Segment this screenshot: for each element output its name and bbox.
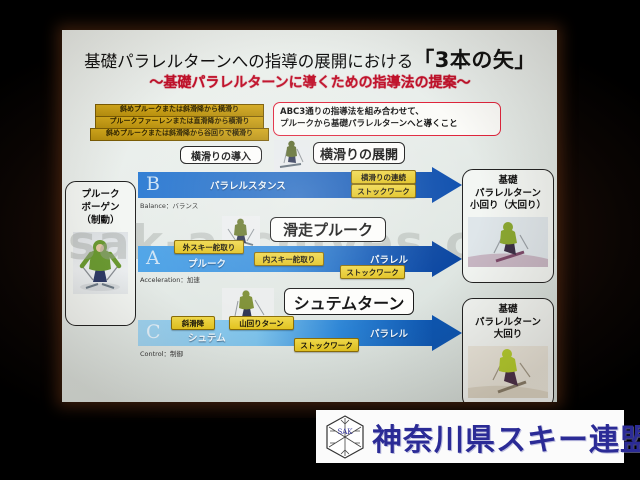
projected-slide: 基礎パラレルターンへの指導の展開における「3本の矢」 ～基礎パラレルターンに導く…	[62, 30, 557, 402]
skier-snowplow-photo	[73, 232, 128, 294]
row-a-stance-right: パラレル	[370, 252, 408, 266]
slide-title: 基礎パラレルターンへの指導の展開における「3本の矢」	[80, 44, 540, 74]
result-box-short-turn: 基礎 パラレルターン 小回り（大回り）	[462, 169, 554, 283]
federation-logo: SAK 神奈川県スキー連盟	[316, 410, 624, 463]
stage-header-a-main: 滑走プルーク	[270, 217, 386, 242]
federation-name: 神奈川県スキー連盟	[372, 415, 640, 459]
row-b-tag-2: ストックワーク	[351, 184, 416, 198]
stage-header-c-main: シュテムターン	[284, 288, 414, 315]
result-bot-line-1: 基礎	[463, 304, 553, 317]
start-state-box: プルーク ボーゲン （制動）	[65, 181, 136, 326]
row-c-stance-left: シュテム	[188, 330, 226, 344]
start-state-line-3: （制動）	[66, 214, 135, 227]
result-top-line-1: 基礎	[463, 175, 553, 188]
result-bot-line-3: 大回り	[463, 329, 553, 342]
row-a-letter: A	[146, 248, 160, 268]
svg-text:SAK: SAK	[337, 428, 353, 436]
red-callout-box: ABC3通りの指導法を組み合わせて、 プルークから基礎パラレルターンへと導くこと	[273, 102, 501, 136]
result-top-line-3: 小回り（大回り）	[463, 200, 553, 213]
row-c-english: Control：制御	[140, 348, 183, 358]
row-b-english: Balance：バランス	[140, 200, 198, 210]
row-c-tag-1: 斜滑降	[171, 316, 215, 330]
start-state-line-1: プルーク	[66, 188, 135, 201]
row-c-stance-right: パラレル	[370, 326, 408, 340]
hexagon-snowflake-icon: SAK	[324, 414, 366, 460]
stage-header-b-intro: 横滑りの導入	[180, 146, 262, 164]
row-c-tag-2: 山回りターン	[229, 316, 294, 330]
row-c-tag-3: ストックワーク	[294, 338, 359, 352]
row-a-english: Acceleration：加速	[140, 274, 200, 284]
red-callout-line-1: ABC3通りの指導法を組み合わせて、	[280, 106, 494, 118]
row-a-tag-2: 内スキー舵取り	[254, 252, 324, 266]
stage-header-b-main: 横滑りの展開	[313, 142, 405, 164]
slide-title-prefix: 基礎パラレルターンへの指導の展開における	[84, 52, 413, 71]
yellow-note-3: 斜めプルークまたは斜滑降から谷回りで横滑り	[90, 128, 269, 141]
screenshot-root: 基礎パラレルターンへの指導の展開における「3本の矢」 ～基礎パラレルターンに導く…	[0, 0, 640, 480]
row-a-tag-3: ストックワーク	[340, 265, 405, 279]
row-c-letter: C	[146, 322, 161, 342]
row-b-stance: パラレルスタンス	[210, 178, 286, 192]
result-box-long-turn: 基礎 パラレルターン 大回り	[462, 298, 554, 402]
slide-subtitle: ～基礎パラレルターンに導くための指導法の提案～	[80, 72, 540, 92]
slide-title-emphasis: 「3本の矢」	[413, 48, 536, 72]
row-b-letter: B	[146, 174, 160, 194]
result-top-line-2: パラレルターン	[463, 188, 553, 201]
skier-long-turn-photo	[468, 346, 548, 398]
row-b-tag-1: 横滑りの連続	[351, 170, 416, 184]
skier-traverse-photo	[274, 140, 310, 172]
row-a-stance-left: プルーク	[188, 256, 226, 270]
row-a-tag-1: 外スキー舵取り	[174, 240, 244, 254]
skier-short-turn-photo	[468, 217, 548, 267]
result-bot-line-2: パラレルターン	[463, 317, 553, 330]
start-state-line-2: ボーゲン	[66, 201, 135, 214]
red-callout-line-2: プルークから基礎パラレルターンへと導くこと	[280, 118, 494, 130]
